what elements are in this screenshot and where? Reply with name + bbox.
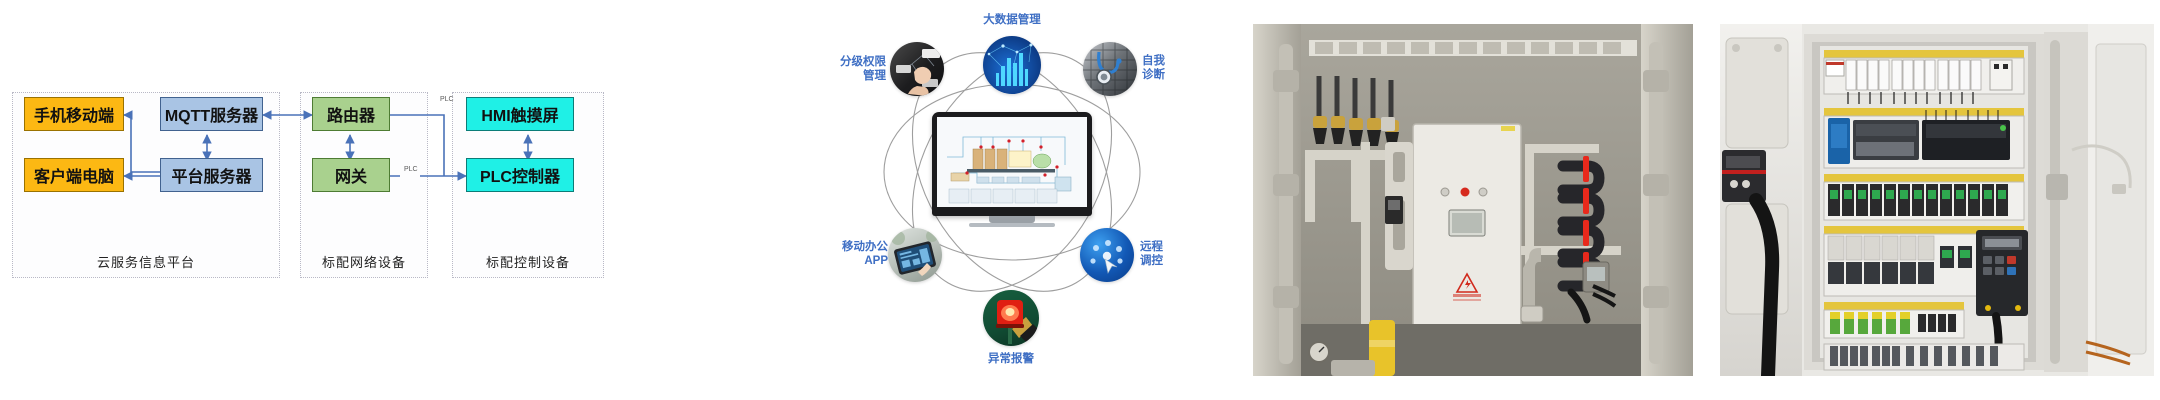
wheel-label-remote-l2: 调控 bbox=[1140, 254, 1200, 268]
node-router-label: 路由器 bbox=[327, 102, 375, 126]
wheel-label-bigdata-text: 大数据管理 bbox=[983, 14, 1041, 26]
scada-monitor-stand bbox=[989, 216, 1035, 223]
node-gateway[interactable]: 网关 bbox=[312, 158, 390, 192]
edge-label-gateway-plc: PLC bbox=[404, 166, 418, 173]
wheel-label-selfdiag-l1: 自我 bbox=[1142, 54, 1202, 68]
photo-plc-control-panel[interactable] bbox=[1720, 24, 2154, 376]
big-data-icon-glyph bbox=[983, 36, 1041, 94]
wheel-label-remote: 远程 调控 bbox=[1140, 240, 1200, 269]
access-level-icon[interactable] bbox=[890, 42, 944, 96]
node-mqtt-server-label: MQTT服务器 bbox=[165, 102, 258, 126]
capability-wheel-diagram: 大数据管理 自我 诊断 bbox=[780, 0, 1250, 400]
scada-monitor[interactable] bbox=[932, 112, 1092, 227]
wheel-label-permission-l1: 分级权限 bbox=[802, 55, 886, 69]
node-platform-server-label: 平台服务器 bbox=[171, 163, 251, 187]
wheel-label-selfdiag-l2: 诊断 bbox=[1142, 68, 1202, 82]
tablet-icon[interactable] bbox=[888, 228, 942, 282]
alarm-beacon-icon-glyph bbox=[983, 290, 1039, 346]
node-hmi-touchscreen-label: HMI触摸屏 bbox=[481, 102, 558, 126]
wheel-label-selfdiag: 自我 诊断 bbox=[1142, 54, 1202, 83]
node-mobile-client-label: 手机移动端 bbox=[34, 102, 114, 126]
edge-label-router-plc: PLC bbox=[440, 96, 454, 103]
remote-control-icon-glyph bbox=[1080, 228, 1134, 282]
scada-monitor-foot bbox=[969, 223, 1055, 227]
group-network-devices-caption: 标配网络设备 bbox=[301, 252, 427, 271]
system-architecture-block-diagram: 云服务信息平台 标配网络设备 标配控制设备 bbox=[0, 0, 780, 400]
photo-plc-control-panel-image bbox=[1720, 24, 2154, 376]
photo-dosing-cabinet[interactable] bbox=[1253, 24, 1693, 376]
stethoscope-icon[interactable] bbox=[1083, 42, 1137, 96]
node-plc-controller-label: PLC控制器 bbox=[480, 163, 560, 187]
screenshot-root: 云服务信息平台 标配网络设备 标配控制设备 bbox=[0, 0, 2160, 400]
node-router[interactable]: 路由器 bbox=[312, 97, 390, 131]
scada-monitor-screen[interactable] bbox=[937, 117, 1087, 207]
node-plc-controller[interactable]: PLC控制器 bbox=[466, 158, 574, 192]
wheel-label-alarm: 异常报警 bbox=[951, 352, 1071, 366]
stethoscope-icon-glyph bbox=[1083, 42, 1137, 96]
group-cloud-platform-caption: 云服务信息平台 bbox=[13, 252, 279, 271]
wheel-label-mobileapp-l1: 移动办公 bbox=[808, 240, 888, 254]
node-mqtt-server[interactable]: MQTT服务器 bbox=[160, 97, 263, 131]
wheel-label-alarm-text: 异常报警 bbox=[988, 353, 1034, 365]
alarm-beacon-icon[interactable] bbox=[983, 290, 1039, 346]
scada-process-mimic bbox=[937, 117, 1087, 207]
node-gateway-label: 网关 bbox=[335, 163, 367, 187]
wheel-label-remote-l1: 远程 bbox=[1140, 240, 1200, 254]
wheel-label-mobileapp-l2: APP bbox=[808, 254, 888, 268]
remote-control-icon[interactable] bbox=[1080, 228, 1134, 282]
node-mobile-client[interactable]: 手机移动端 bbox=[24, 97, 124, 131]
wheel-label-permission: 分级权限 管理 bbox=[802, 55, 886, 84]
wheel-label-bigdata: 大数据管理 bbox=[952, 13, 1072, 27]
big-data-icon[interactable] bbox=[983, 36, 1041, 94]
scada-monitor-bezel bbox=[932, 112, 1092, 216]
wheel-label-permission-l2: 管理 bbox=[802, 69, 886, 83]
node-platform-server[interactable]: 平台服务器 bbox=[160, 158, 263, 192]
node-desktop-client[interactable]: 客户端电脑 bbox=[24, 158, 124, 192]
wheel-label-mobileapp: 移动办公 APP bbox=[808, 240, 888, 269]
tablet-icon-glyph bbox=[888, 228, 942, 282]
node-desktop-client-label: 客户端电脑 bbox=[34, 163, 114, 187]
node-hmi-touchscreen[interactable]: HMI触摸屏 bbox=[466, 97, 574, 131]
group-control-devices-caption: 标配控制设备 bbox=[453, 252, 603, 271]
access-level-icon-glyph bbox=[890, 42, 944, 96]
photo-dosing-cabinet-image bbox=[1253, 24, 1693, 376]
